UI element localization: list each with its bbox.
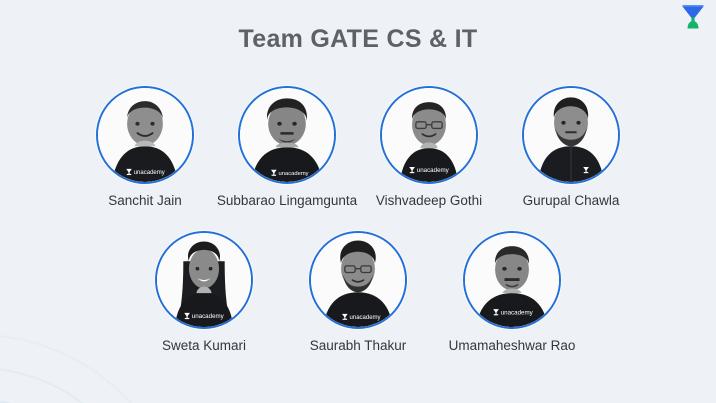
- svg-text:unacademy: unacademy: [350, 315, 381, 321]
- svg-text:unacademy: unacademy: [192, 313, 225, 320]
- avatar: unacademy: [309, 231, 407, 329]
- team-member-card[interactable]: unacademy Saurabh Thakur: [310, 231, 406, 355]
- member-name: Umamaheshwar Rao: [449, 338, 576, 355]
- member-name: Sanchit Jain: [108, 193, 182, 210]
- member-photo: unacademy: [465, 233, 559, 327]
- avatar: unacademy: [155, 231, 253, 329]
- avatar: unacademy: [96, 86, 194, 184]
- member-photo: unacademy: [240, 88, 334, 182]
- team-member-card[interactable]: unacademy Vishvadeep Gothi: [381, 86, 477, 210]
- avatar: unacademy: [238, 86, 336, 184]
- team-row-2: unacademy Sweta Kumari: [0, 231, 716, 355]
- team-member-card[interactable]: unacademy Sanchit Jain: [97, 86, 193, 210]
- team-member-card[interactable]: unacademy Umamaheshwar Rao: [464, 231, 560, 355]
- svg-text:unacademy: unacademy: [417, 167, 450, 174]
- avatar: unacademy: [380, 86, 478, 184]
- svg-text:unacademy: unacademy: [279, 171, 309, 177]
- team-row-1: unacademy Sanchit Jain: [0, 86, 716, 210]
- member-name: Gurupal Chawla: [523, 193, 620, 210]
- team-member-card[interactable]: Gurupal Chawla: [523, 86, 619, 210]
- team-member-card[interactable]: unacademy Sweta Kumari: [156, 231, 252, 355]
- svg-text:unacademy: unacademy: [501, 309, 534, 316]
- member-photo: unacademy: [311, 233, 405, 327]
- avatar: unacademy: [463, 231, 561, 329]
- member-photo: unacademy: [157, 233, 251, 327]
- svg-text:unacademy: unacademy: [134, 170, 165, 176]
- avatar: [522, 86, 620, 184]
- slide-canvas: Team GATE CS & IT: [0, 0, 716, 403]
- member-name: Sweta Kumari: [162, 338, 246, 355]
- member-name: Subbarao Lingamgunta: [217, 193, 357, 210]
- member-photo: unacademy: [382, 88, 476, 182]
- page-title: Team GATE CS & IT: [0, 25, 716, 54]
- member-name: Vishvadeep Gothi: [376, 193, 482, 210]
- team-member-card[interactable]: unacademy Subbarao Lingamgunta: [239, 86, 335, 210]
- member-photo: unacademy: [98, 88, 192, 182]
- member-name: Saurabh Thakur: [310, 338, 407, 355]
- member-photo: [524, 88, 618, 182]
